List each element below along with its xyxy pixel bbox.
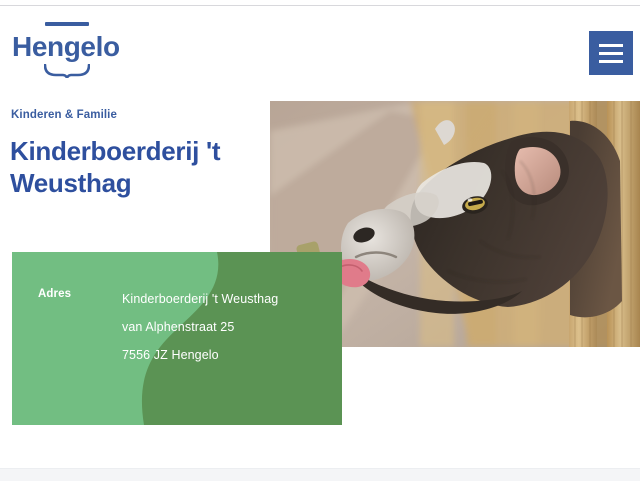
menu-button[interactable] — [589, 31, 633, 75]
logo-brace-icon — [44, 64, 90, 78]
address-line-3: 7556 JZ Hengelo — [122, 341, 332, 369]
logo-top-bar-icon — [45, 22, 89, 26]
hamburger-line-3 — [599, 60, 623, 63]
page-title: Kinderboerderij 't Weusthag — [10, 135, 260, 199]
site-header: Hengelo — [0, 6, 640, 90]
address-line-2: van Alphenstraat 25 — [122, 313, 332, 341]
logo-wordmark: Hengelo — [12, 30, 132, 64]
hamburger-line-1 — [599, 44, 623, 47]
address-line-1: Kinderboerderij 't Weusthag — [122, 285, 332, 313]
address-lines: Kinderboerderij 't Weusthag van Alphenst… — [122, 285, 332, 369]
address-label: Adres — [38, 288, 71, 300]
address-card: Adres Kinderboerderij 't Weusthag van Al… — [12, 252, 342, 425]
page-bottom-band — [0, 468, 640, 481]
breadcrumb[interactable]: Kinderen & Familie — [11, 109, 117, 121]
site-logo[interactable]: Hengelo — [12, 20, 132, 82]
hamburger-line-2 — [599, 52, 623, 55]
